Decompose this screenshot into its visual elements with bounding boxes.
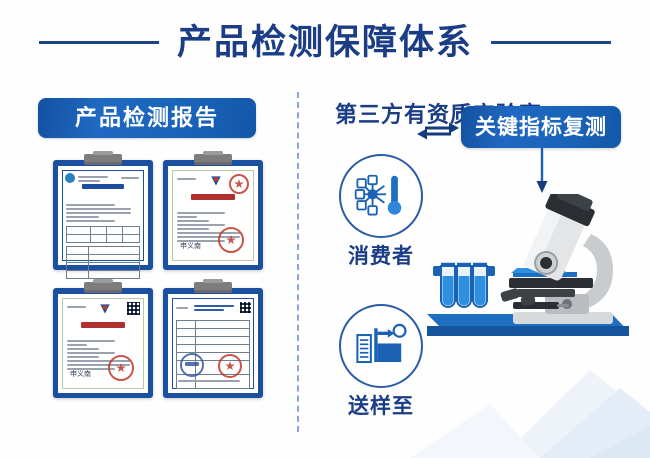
clipboard-clasp-icon	[84, 282, 122, 293]
company-logo-icon	[209, 174, 223, 188]
document-content	[168, 294, 258, 393]
arrow-retest-to-lab-icon	[535, 148, 549, 194]
page-header: 产品检测保障体系	[0, 14, 650, 70]
document-content: 申义南	[58, 294, 148, 393]
retest-label: 关键指标复测	[475, 117, 607, 138]
document-content: 申义南	[168, 166, 258, 265]
consumer-circle[interactable]	[339, 154, 423, 238]
infographic-canvas: 产品检测保障体系 产品检测报告	[0, 0, 650, 458]
left-panel: 产品检测报告	[0, 86, 297, 436]
header-rule-right	[491, 41, 611, 44]
laboratory-equipment-scene	[427, 194, 650, 372]
qr-code-icon	[240, 302, 251, 313]
page-title: 产品检测保障体系	[177, 25, 473, 60]
product-test-report-pill[interactable]: 产品检测报告	[38, 98, 256, 138]
qr-code-icon	[127, 302, 140, 315]
accreditation-seal-icon	[180, 353, 204, 377]
send-sample-label: 送样至	[321, 396, 441, 417]
clipboard-backing	[163, 288, 263, 398]
molecule-thermometer-icon	[354, 169, 408, 223]
red-seal-icon	[229, 174, 249, 194]
document-header-lines	[176, 305, 190, 311]
document-gallery: 申义南	[45, 152, 275, 414]
clipboard-clasp-icon	[84, 154, 122, 165]
right-panel: 第三方有资质实验室	[297, 86, 650, 458]
document-header-lines	[177, 176, 199, 182]
red-seal-icon	[218, 227, 244, 253]
document-meta-lines	[66, 202, 140, 224]
document-title-lines	[194, 303, 240, 313]
org-logo-icon	[65, 173, 75, 183]
document-footer-line	[178, 378, 248, 384]
clipboard-backing	[53, 160, 153, 270]
company-logo-icon	[98, 302, 112, 316]
clipboard-backing: 申义南	[163, 160, 263, 270]
clipboard-clasp-icon	[194, 282, 232, 293]
document-content	[58, 166, 148, 265]
test-tube-rack-icon	[433, 264, 495, 307]
document-page	[168, 294, 258, 393]
header-rule-left	[39, 41, 159, 44]
document-page: 申义南	[168, 166, 258, 265]
document-page	[58, 166, 148, 265]
consumer-label: 消费者	[321, 246, 441, 267]
document-table-top	[66, 226, 140, 243]
red-seal-icon	[108, 355, 134, 381]
document-page: 申义南	[58, 294, 148, 393]
key-index-retest-box[interactable]: 关键指标复测	[461, 106, 621, 148]
document-thumbnail[interactable]	[163, 280, 263, 398]
arrow-lab-to-send-sample-icon	[417, 128, 451, 140]
pill-label: 产品检测报告	[75, 107, 219, 129]
lab-factory-icon	[354, 321, 408, 371]
clipboard-clasp-icon	[194, 154, 232, 165]
send-sample-circle[interactable]	[339, 304, 423, 388]
document-code	[121, 175, 141, 181]
document-thumbnail[interactable]: 申义南	[163, 152, 263, 270]
red-seal-icon	[218, 354, 242, 378]
signature-text: 申义南	[70, 369, 91, 379]
clipboard-backing: 申义南	[53, 288, 153, 398]
document-header-lines	[67, 304, 89, 310]
signature-text: 申义南	[180, 241, 201, 251]
document-thumbnail[interactable]	[53, 152, 153, 270]
microscope-icon	[500, 194, 613, 324]
document-header-lines	[78, 174, 112, 184]
document-thumbnail[interactable]: 申义南	[53, 280, 153, 398]
microscope-and-tubes-illustration	[427, 194, 650, 372]
document-table-bottom	[66, 246, 140, 279]
